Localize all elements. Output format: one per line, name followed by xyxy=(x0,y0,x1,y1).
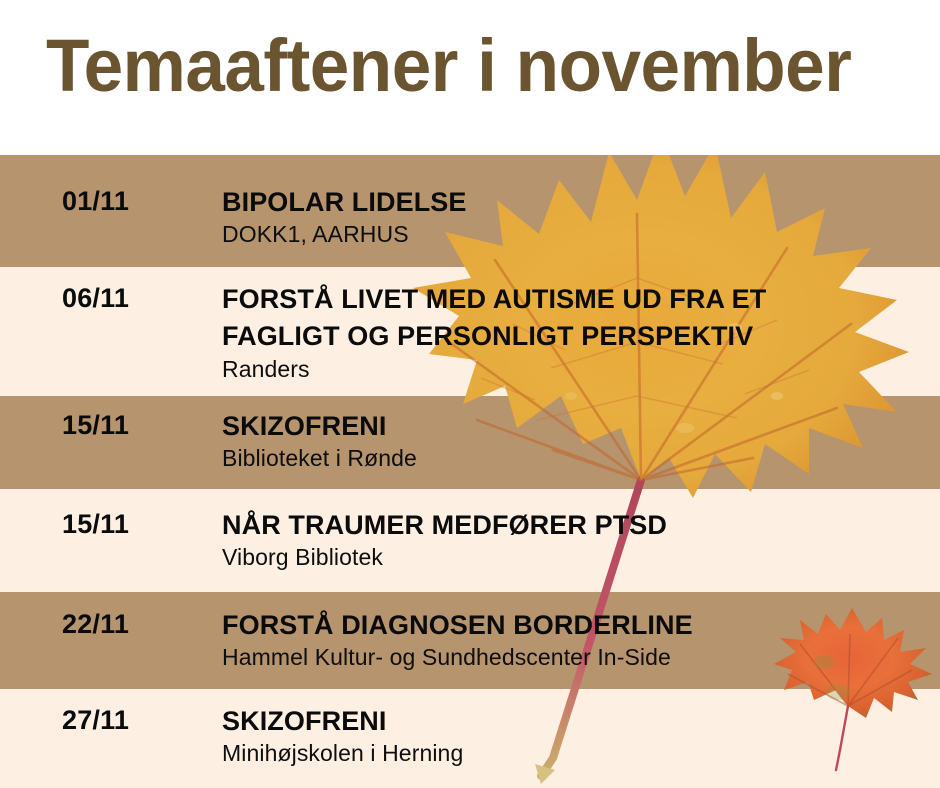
list-item[interactable]: 01/11 BIPOLAR LIDELSE DOKK1, AARHUS xyxy=(0,155,940,267)
title-band: Temaaftener i november xyxy=(0,0,940,155)
list-item[interactable]: 06/11 FORSTÅ LIVET MED AUTISME UD FRA ET… xyxy=(0,267,940,396)
event-venue: Biblioteket i Rønde xyxy=(222,445,417,472)
event-venue: Viborg Bibliotek xyxy=(222,544,383,571)
list-item[interactable]: 15/11 NÅR TRAUMER MEDFØRER PTSD Viborg B… xyxy=(0,489,940,592)
event-date: 01/11 xyxy=(62,186,129,217)
event-venue: Minihøjskolen i Herning xyxy=(222,740,463,767)
event-title: SKIZOFRENI xyxy=(222,408,387,445)
event-title: SKIZOFRENI xyxy=(222,703,387,740)
poster: Temaaftener i november 01/11 BIPOLAR LID… xyxy=(0,0,940,788)
list-item[interactable]: 15/11 SKIZOFRENI Biblioteket i Rønde xyxy=(0,396,940,489)
event-venue: DOKK1, AARHUS xyxy=(222,221,409,248)
event-date: 15/11 xyxy=(62,509,129,540)
page-title: Temaaftener i november xyxy=(46,24,872,108)
event-date: 15/11 xyxy=(62,410,129,441)
event-title: FORSTÅ DIAGNOSEN BORDERLINE xyxy=(222,607,693,644)
event-venue: Randers xyxy=(222,356,310,383)
event-venue: Hammel Kultur- og Sundhedscenter In-Side xyxy=(222,644,671,671)
event-title: BIPOLAR LIDELSE xyxy=(222,184,467,221)
event-title: NÅR TRAUMER MEDFØRER PTSD xyxy=(222,507,667,544)
event-title: FORSTÅ LIVET MED AUTISME UD FRA ET FAGLI… xyxy=(222,281,766,355)
list-item[interactable]: 22/11 FORSTÅ DIAGNOSEN BORDERLINE Hammel… xyxy=(0,592,940,689)
list-item[interactable]: 27/11 SKIZOFRENI Minihøjskolen i Herning xyxy=(0,689,940,788)
event-date: 27/11 xyxy=(62,705,129,736)
event-date: 22/11 xyxy=(62,609,129,640)
event-date: 06/11 xyxy=(62,283,129,314)
